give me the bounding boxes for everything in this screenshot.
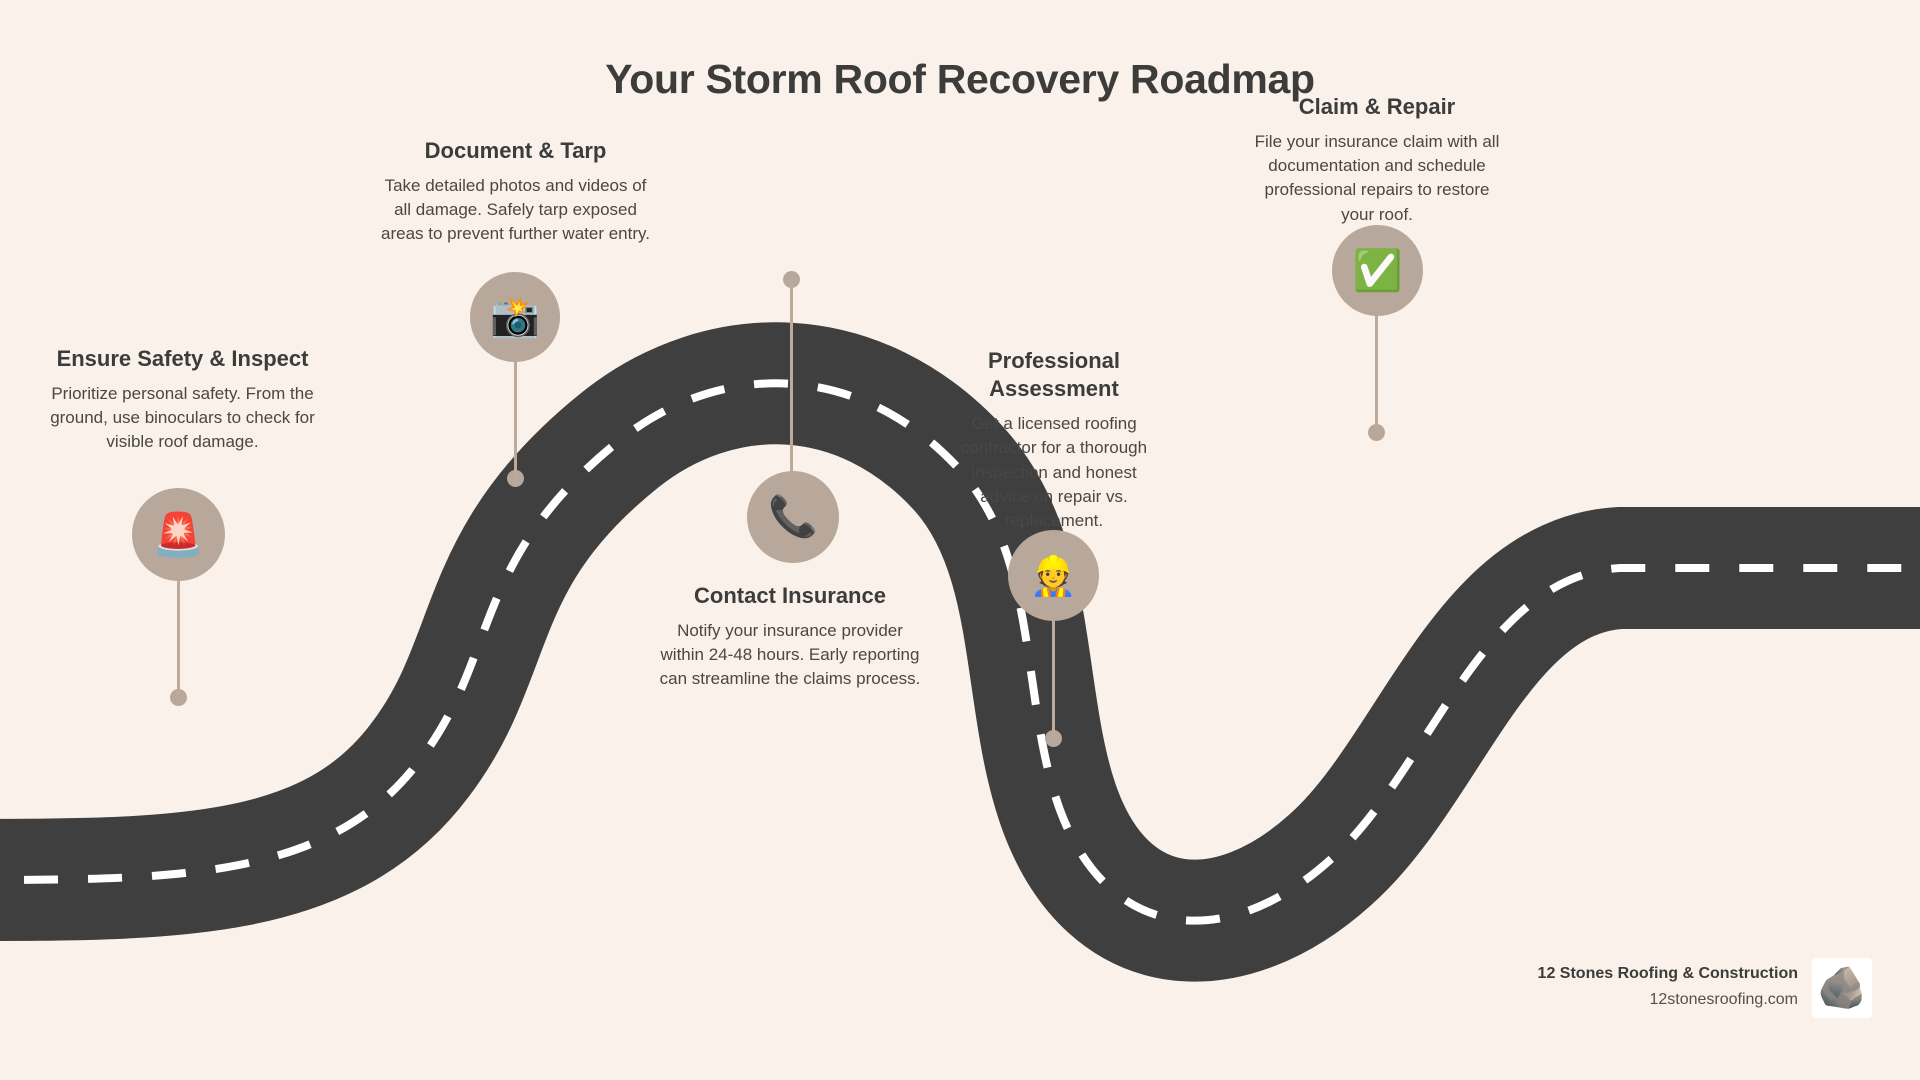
step-2-body: Take detailed photos and videos of all d…: [378, 174, 653, 246]
step-2: Document & Tarp Take detailed photos and…: [378, 137, 653, 247]
step-3: Contact Insurance Notify your insurance …: [655, 582, 925, 692]
step-1-heading: Ensure Safety & Inspect: [40, 345, 325, 373]
step-3-marker[interactable]: 📞: [747, 471, 839, 563]
step-3-body: Notify your insurance provider within 24…: [655, 619, 925, 691]
step-4-marker[interactable]: 👷: [1008, 530, 1099, 621]
step-4-heading: Professional Assessment: [945, 347, 1163, 403]
footer-branding: 12 Stones Roofing & Construction 12stone…: [1538, 958, 1872, 1018]
step-1: Ensure Safety & Inspect Prioritize perso…: [40, 345, 325, 455]
police-car-light-icon: 🚨: [152, 514, 204, 556]
step-4-body: Get a licensed roofing contractor for a …: [945, 412, 1163, 533]
stacked-stones-logo-glyph: 🪨: [1817, 968, 1867, 1008]
step-2-marker[interactable]: 📸: [470, 272, 560, 362]
step-5-heading: Claim & Repair: [1252, 93, 1502, 121]
stacked-stones-logo: 🪨: [1812, 958, 1872, 1018]
step-1-body: Prioritize personal safety. From the gro…: [40, 382, 325, 454]
step-3-heading: Contact Insurance: [655, 582, 925, 610]
step-3-stem: [790, 278, 793, 478]
road-graphic: [0, 0, 1920, 1080]
step-4: Professional Assessment Get a licensed r…: [945, 347, 1163, 533]
check-mark-button-icon: ✅: [1353, 251, 1403, 291]
step-1-stem: [177, 575, 180, 695]
step-4-stem: [1052, 616, 1055, 736]
page-title: Your Storm Roof Recovery Roadmap: [0, 56, 1920, 103]
telephone-receiver-icon: 📞: [768, 497, 818, 537]
step-5-body: File your insurance claim with all docum…: [1252, 130, 1502, 227]
construction-worker-icon: 👷: [1030, 557, 1077, 595]
company-website[interactable]: 12stonesroofing.com: [1538, 988, 1798, 1013]
step-5: Claim & Repair File your insurance claim…: [1252, 93, 1502, 227]
step-1-marker[interactable]: 🚨: [132, 488, 225, 581]
step-5-stem: [1375, 310, 1378, 430]
step-5-marker[interactable]: ✅: [1332, 225, 1423, 316]
step-2-heading: Document & Tarp: [378, 137, 653, 165]
step-2-stem: [514, 358, 517, 476]
camera-with-flash-icon: 📸: [490, 297, 540, 337]
company-name: 12 Stones Roofing & Construction: [1538, 964, 1798, 985]
footer-text: 12 Stones Roofing & Construction 12stone…: [1538, 964, 1798, 1013]
